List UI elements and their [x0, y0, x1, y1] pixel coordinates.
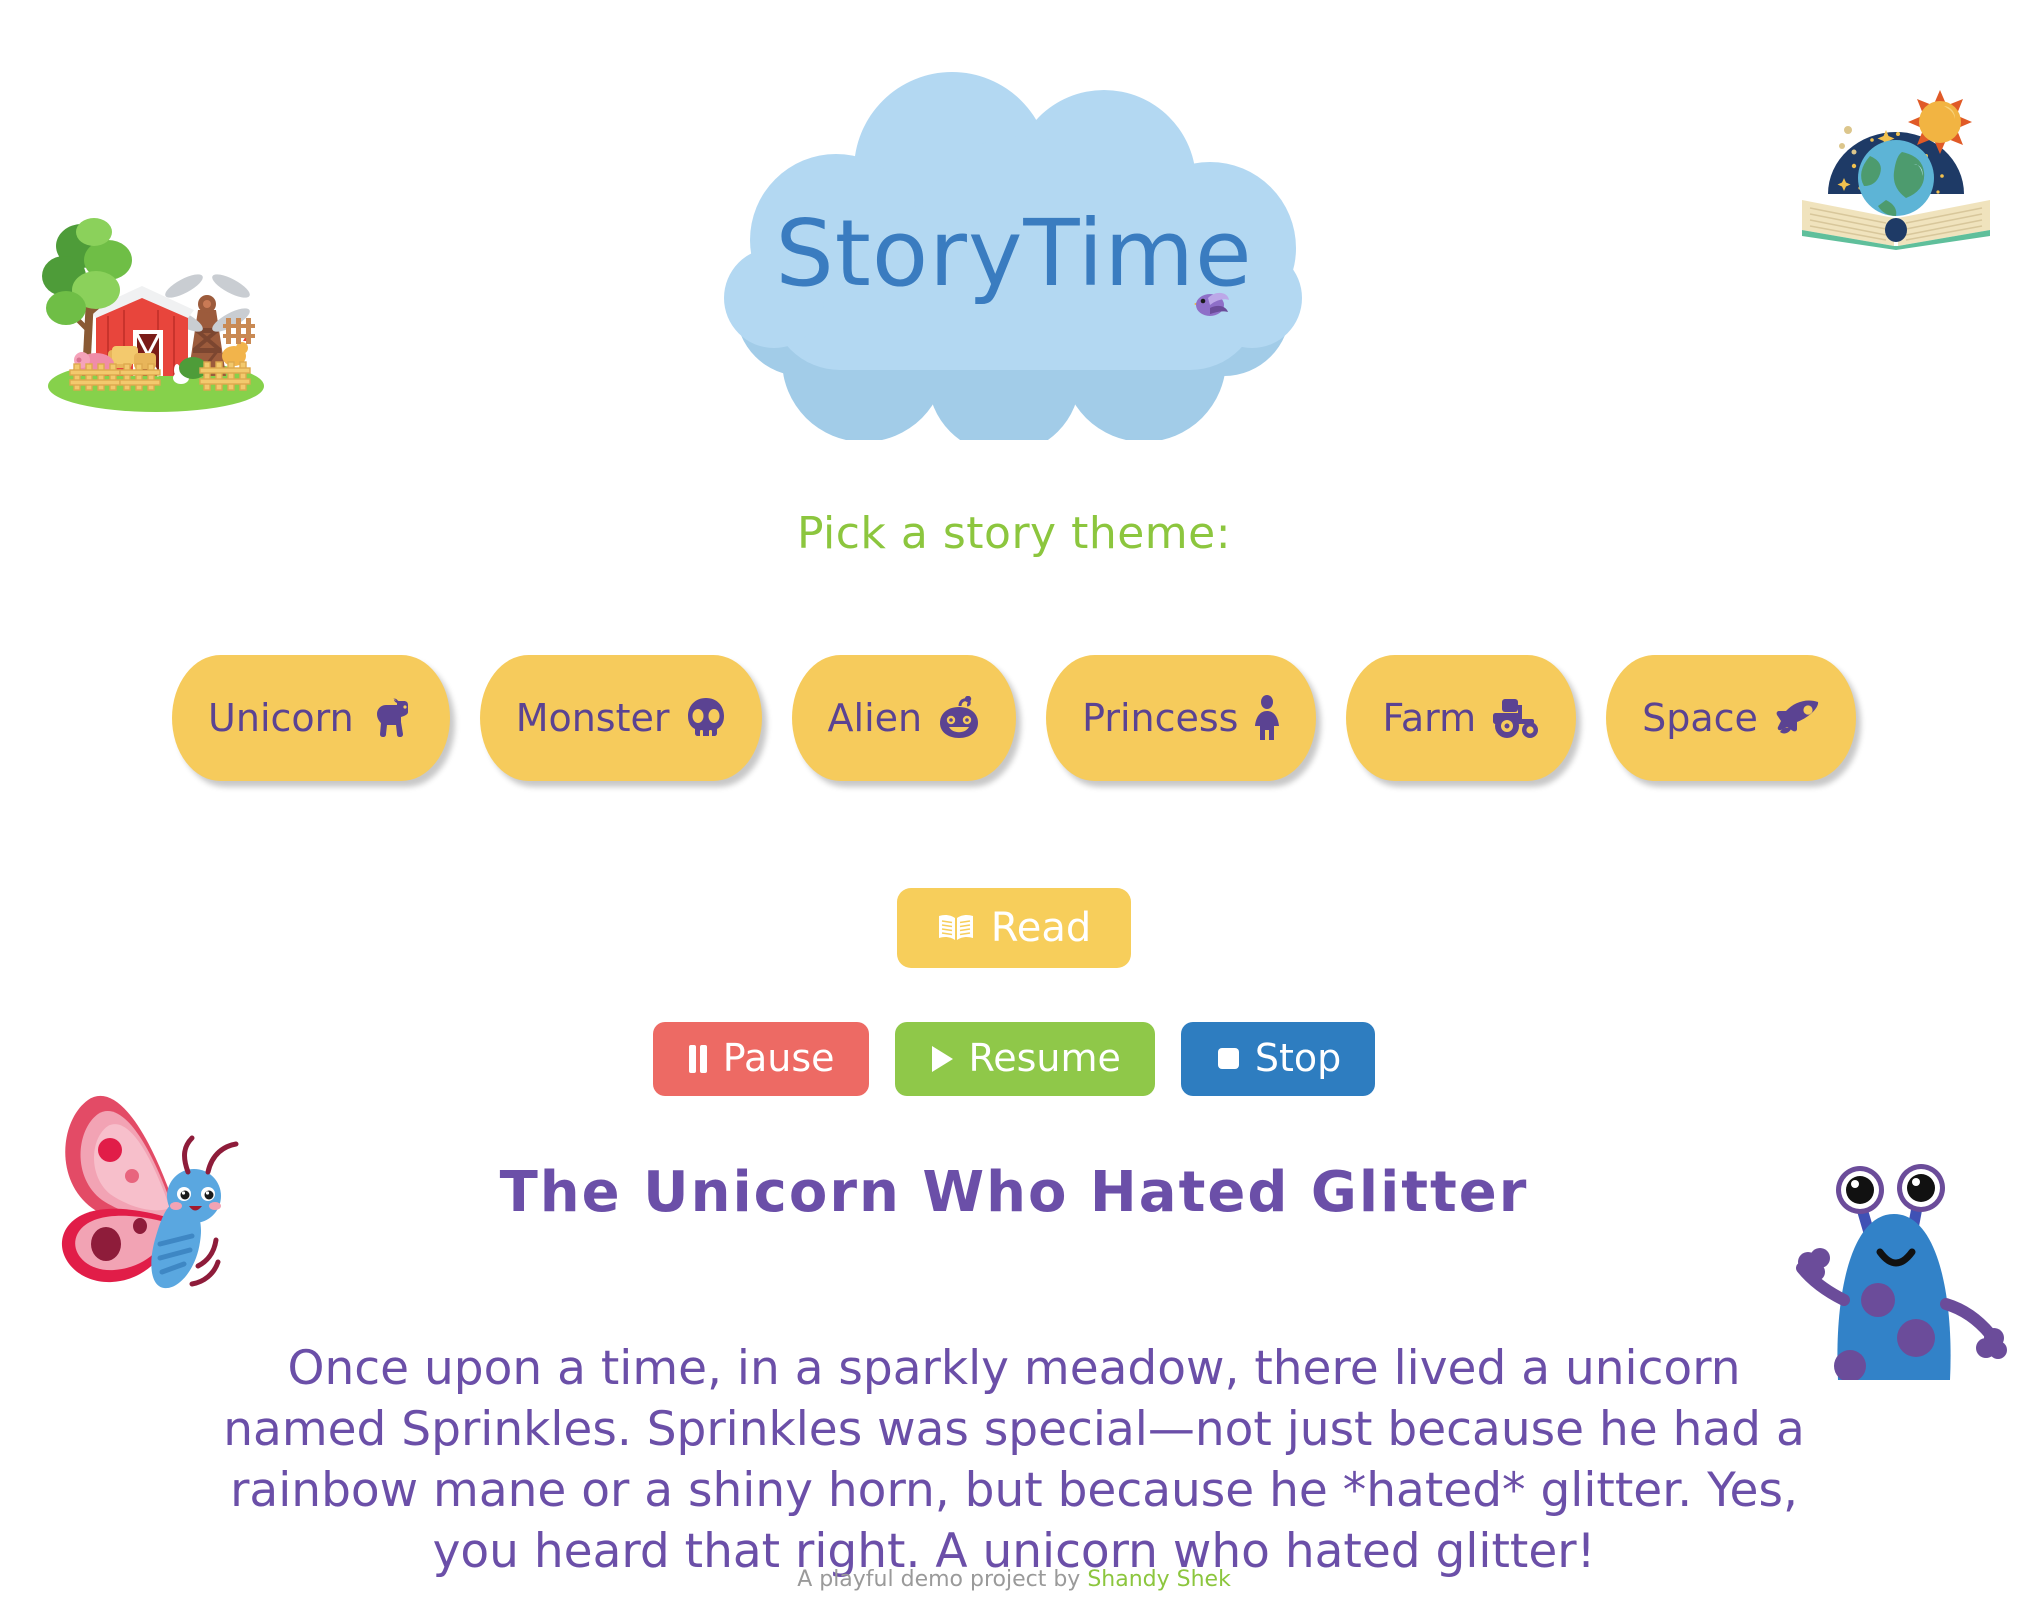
theme-button-label: Monster: [516, 699, 670, 737]
read-action-row: Read: [0, 888, 2028, 968]
theme-button-princess[interactable]: Princess: [1046, 655, 1316, 781]
farm-scene-illustration: [38, 198, 268, 420]
horse-icon: [370, 698, 414, 738]
alien-icon: [938, 696, 980, 740]
theme-button-monster[interactable]: Monster: [480, 655, 762, 781]
theme-button-label: Unicorn: [208, 699, 354, 737]
theme-button-label: Princess: [1082, 699, 1238, 737]
resume-button[interactable]: Resume: [895, 1022, 1155, 1096]
theme-button-unicorn[interactable]: Unicorn: [172, 655, 450, 781]
resume-button-label: Resume: [969, 1036, 1121, 1082]
read-button-label: Read: [991, 904, 1092, 952]
theme-button-space[interactable]: Space: [1606, 655, 1856, 781]
tractor-icon: [1492, 697, 1540, 739]
theme-button-label: Farm: [1382, 699, 1476, 737]
pause-button-label: Pause: [723, 1036, 835, 1082]
theme-button-label: Space: [1642, 699, 1758, 737]
stop-button[interactable]: Stop: [1181, 1022, 1375, 1096]
stop-icon: [1215, 1044, 1241, 1074]
play-icon: [929, 1044, 955, 1074]
pause-icon: [687, 1044, 709, 1074]
story-body-text: Once upon a time, in a sparkly meadow, t…: [214, 1338, 1814, 1582]
read-button[interactable]: Read: [897, 888, 1132, 968]
pick-theme-heading: Pick a story theme:: [0, 508, 2028, 559]
theme-button-label: Alien: [828, 699, 923, 737]
skull-icon: [686, 697, 726, 739]
footer: A playful demo project by Shandy Shek: [0, 1567, 2028, 1592]
stop-button-label: Stop: [1255, 1036, 1341, 1082]
space-book-illustration: [1798, 82, 1994, 250]
playback-controls: Pause Resume Stop: [0, 1022, 2028, 1096]
story-title: The Unicorn Who Hated Glitter: [0, 1160, 2028, 1225]
app-header-cloud: StoryTime: [704, 60, 1324, 440]
footer-author-link[interactable]: Shandy Shek: [1087, 1567, 1231, 1592]
footer-prefix: A playful demo project by: [797, 1567, 1087, 1592]
rocket-icon: [1774, 697, 1820, 739]
theme-button-alien[interactable]: Alien: [792, 655, 1017, 781]
page-title: StoryTime: [704, 200, 1324, 307]
theme-button-farm[interactable]: Farm: [1346, 655, 1576, 781]
pause-button[interactable]: Pause: [653, 1022, 869, 1096]
bird-icon: [1190, 288, 1230, 326]
open-book-icon: [937, 913, 975, 943]
person-icon: [1254, 695, 1280, 741]
storytime-app: StoryTime Pick a story theme: Unicorn: [0, 0, 2028, 1606]
theme-button-row: Unicorn Monster: [0, 655, 2028, 781]
